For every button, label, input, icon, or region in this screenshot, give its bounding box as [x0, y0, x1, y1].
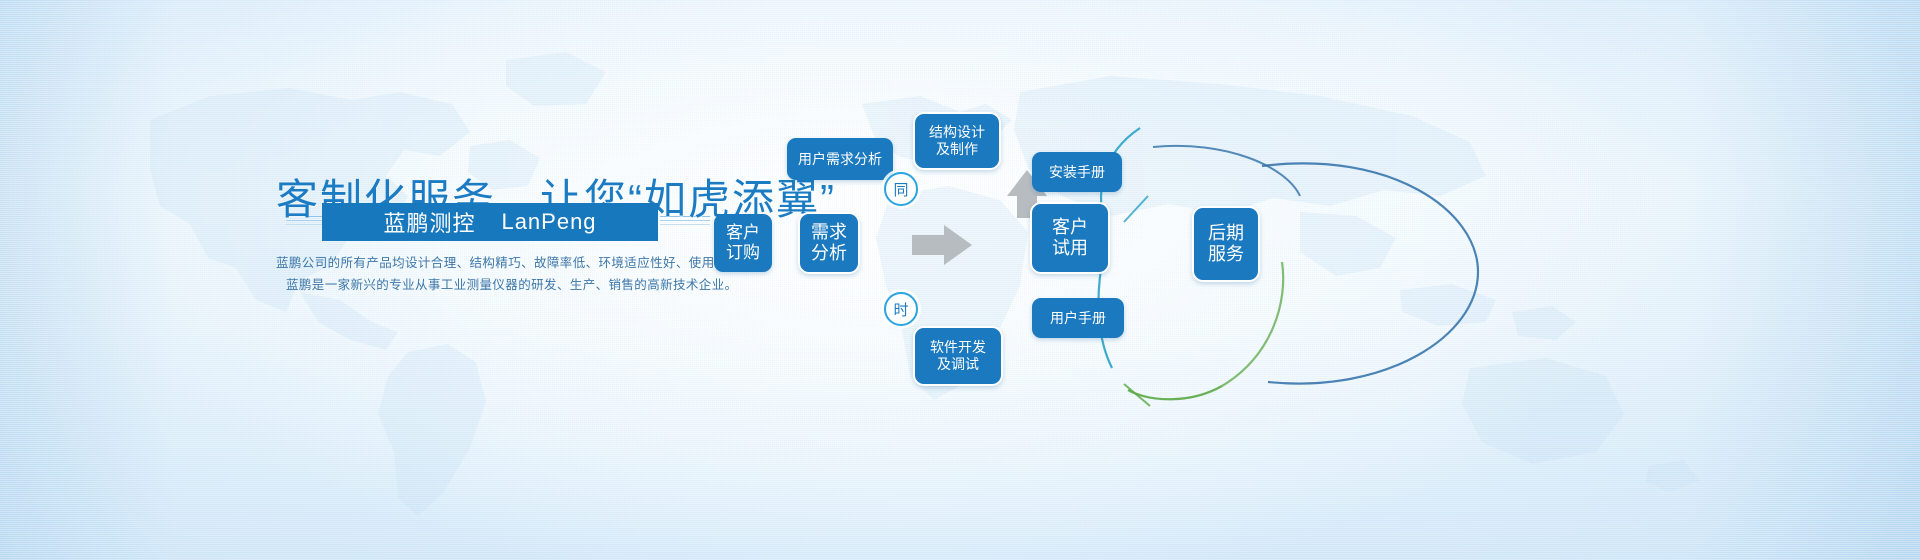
flow-node-customer-order[interactable]: 客户 订购 — [714, 214, 772, 272]
brand-name-cn: 蓝鹏测控 — [383, 206, 475, 238]
flow-badge-label: 时 — [893, 299, 908, 320]
flow-node-label-line1: 结构设计 — [929, 124, 985, 141]
flow-node-label-line1: 需求 — [811, 222, 847, 243]
flow-node-label-line2: 分析 — [811, 243, 847, 264]
description-line-2: 蓝鹏是一家新兴的专业从事工业测量仪器的研发、生产、销售的高新技术企业。 — [276, 274, 696, 296]
flow-node-software-development[interactable]: 软件开发 及调试 — [913, 326, 1003, 386]
brand-name-en: LanPeng — [501, 209, 596, 235]
flow-node-label-line1: 后期 — [1208, 223, 1244, 244]
flow-node-label-line1: 客户 — [726, 223, 760, 243]
description-line-1: 蓝鹏公司的所有产品均设计合理、结构精巧、故障率低、环境适应性好、使用寿命长。 — [276, 252, 696, 274]
flow-node-label: 安装手册 — [1049, 164, 1105, 181]
flow-node-label-line2: 服务 — [1208, 244, 1244, 265]
flow-badge-tong[interactable]: 同 — [884, 172, 918, 206]
flow-node-label-line2: 试用 — [1052, 238, 1088, 259]
flow-node-label-line2: 订购 — [726, 243, 760, 263]
flow-node-label-line1: 客户 — [1052, 217, 1088, 238]
description-paragraph: 蓝鹏公司的所有产品均设计合理、结构精巧、故障率低、环境适应性好、使用寿命长。 蓝… — [276, 252, 696, 296]
banner-stage: 客制化服务，让您“如虎添翼” 蓝鹏测控 LanPeng 蓝鹏公司的所有产品均设计… — [0, 0, 1920, 560]
flow-node-label-line2: 及制作 — [936, 141, 978, 158]
flow-node-requirement-analysis[interactable]: 需求 分析 — [798, 212, 860, 274]
flow-node-label-line1: 软件开发 — [930, 339, 986, 356]
flow-node-user-manual[interactable]: 用户手册 — [1032, 298, 1124, 338]
flow-node-label-line2: 及调试 — [937, 356, 979, 373]
flow-node-installation-manual[interactable]: 安装手册 — [1032, 152, 1122, 192]
flow-node-label: 用户需求分析 — [798, 151, 882, 168]
flow-node-user-requirement-analysis[interactable]: 用户需求分析 — [787, 138, 893, 180]
flow-badge-shi[interactable]: 时 — [884, 292, 918, 326]
brand-banner: 蓝鹏测控 LanPeng — [322, 203, 658, 241]
flow-node-customer-trial[interactable]: 客户 试用 — [1030, 202, 1110, 274]
flow-node-structural-design[interactable]: 结构设计 及制作 — [913, 112, 1001, 170]
flow-badge-label: 同 — [893, 179, 908, 200]
flow-node-label: 用户手册 — [1050, 310, 1106, 327]
flow-node-after-sales-service[interactable]: 后期 服务 — [1192, 206, 1260, 282]
